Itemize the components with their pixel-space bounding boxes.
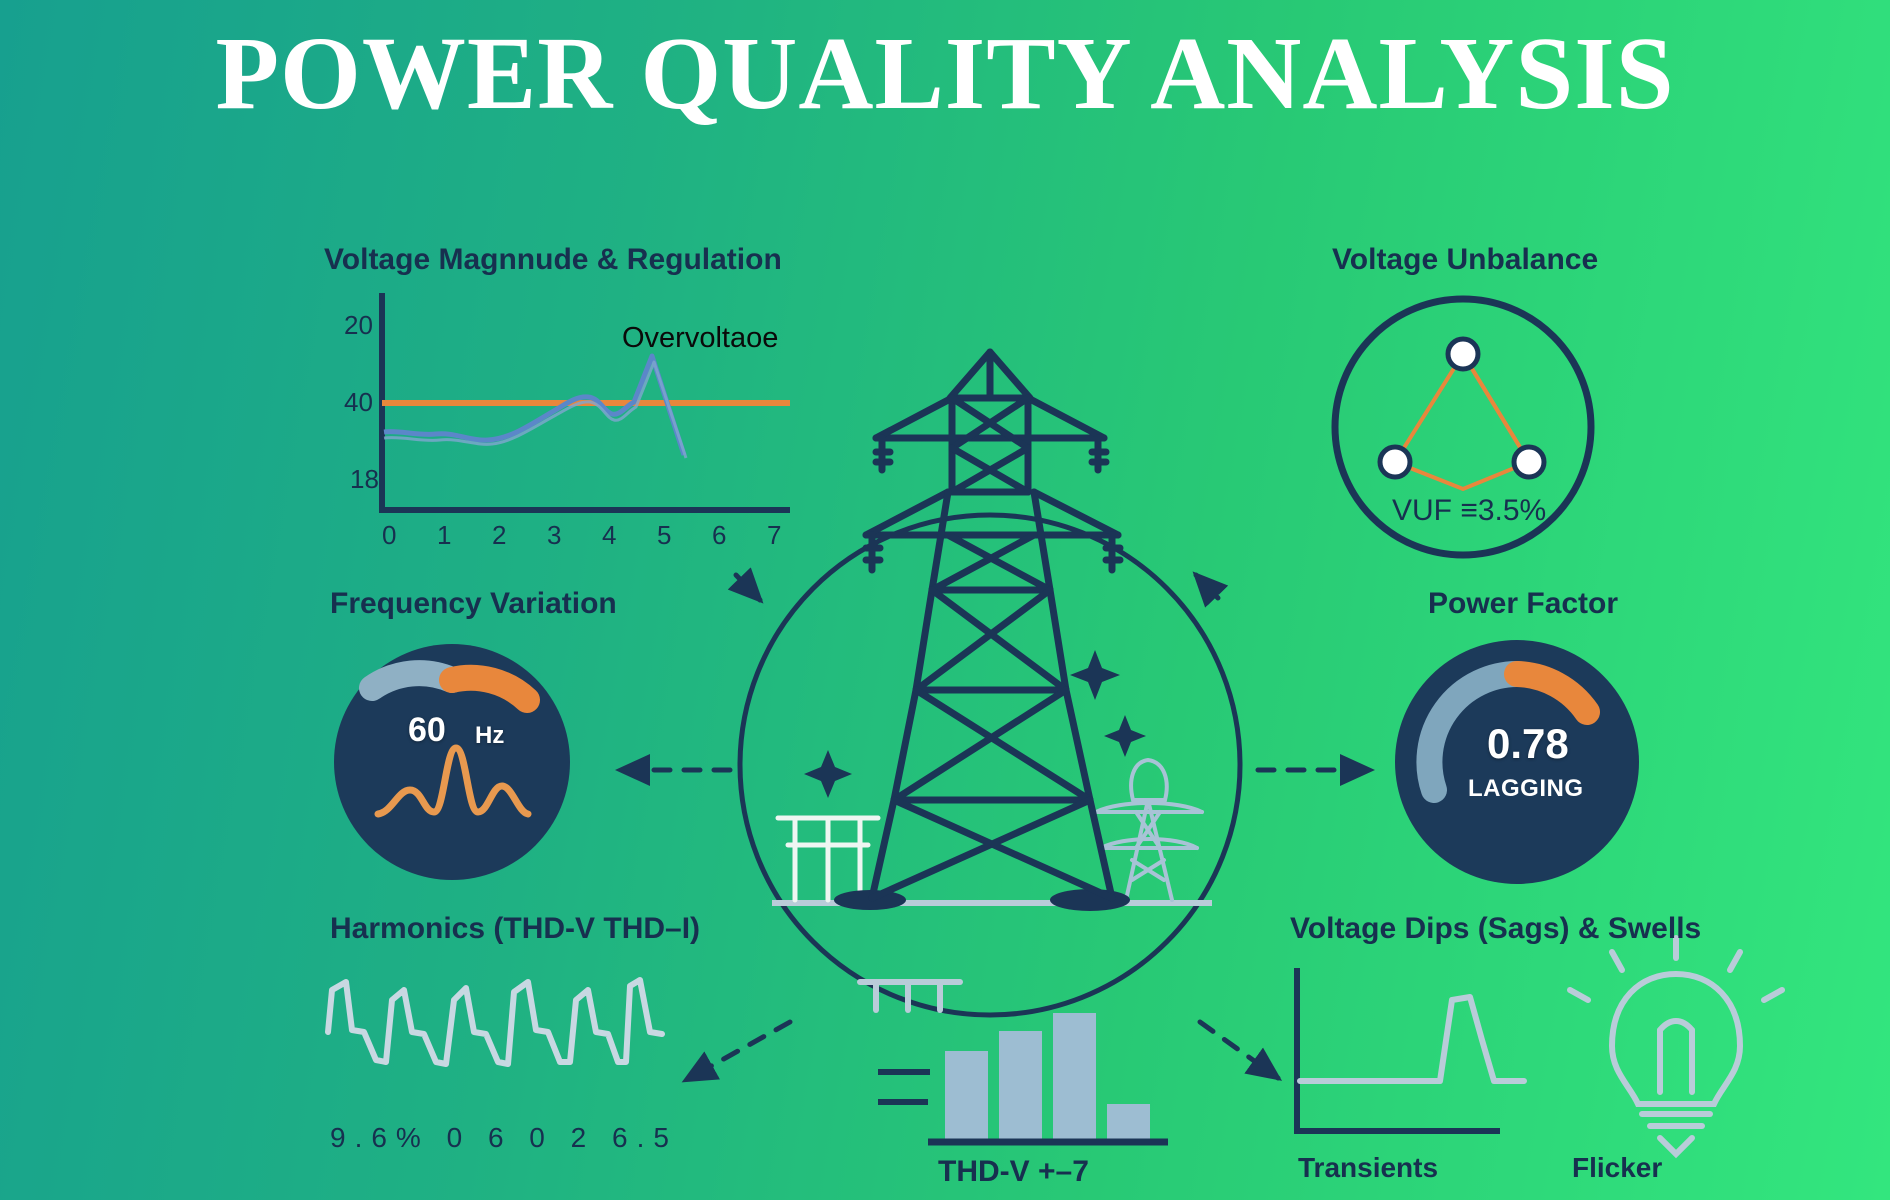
vu-node-a: [1448, 339, 1478, 369]
thd-bar-4: [1107, 1104, 1150, 1139]
tr-axes: [1297, 968, 1500, 1131]
annotation-overvoltage: Overvoltaoe: [622, 322, 778, 355]
central-illustration: [740, 352, 1240, 1015]
vm-xtick-7: 7: [767, 520, 781, 551]
harmonics-waveform: [328, 980, 662, 1064]
panel-title-voltage-magnitude: Voltage Magnnude & Regulation: [324, 243, 782, 277]
small-pylon-right-icon: [1096, 760, 1202, 900]
vm-xtick-3: 3: [547, 520, 561, 551]
vm-ytick-2: 18: [350, 464, 379, 495]
connector-to-dips: [1200, 1022, 1278, 1078]
vu-phasor-leg: [1463, 354, 1529, 462]
connector-arrows: [620, 575, 1370, 1080]
vuf-value: VUF ≡3.5%: [1392, 494, 1546, 528]
panel-title-voltage-unbalance: Voltage Unbalance: [1332, 243, 1598, 277]
connector-to-harmonics: [686, 1022, 790, 1080]
panel-title-dips-swells: Voltage Dips (Sags) & Swells: [1290, 912, 1701, 946]
vm-ytick-1: 40: [344, 387, 373, 418]
harmonics-values: 9.6% 0 6 0 2 6.5: [330, 1122, 678, 1154]
label-flicker: Flicker: [1572, 1152, 1662, 1184]
frequency-value: 60: [408, 711, 446, 750]
thd-bar-1: [945, 1051, 988, 1139]
vm-xtick-6: 6: [712, 520, 726, 551]
thd-bar-2: [999, 1031, 1042, 1139]
panel-title-harmonics: Harmonics (THD-V THD–I): [330, 912, 700, 946]
vm-xtick-1: 1: [437, 520, 451, 551]
thd-bar-label: THD-V +–7: [938, 1155, 1089, 1189]
label-transients: Transients: [1298, 1152, 1438, 1184]
page-title: POWER QUALITY ANALYSIS: [0, 14, 1890, 133]
flicker-bulb-icon: [1570, 938, 1782, 1154]
vm-xtick-0: 0: [382, 520, 396, 551]
panel-title-power-factor: Power Factor: [1428, 587, 1618, 621]
connector-to-voltage-unbalance: [1196, 575, 1218, 598]
power-factor-state: LAGGING: [1468, 775, 1584, 803]
vm-voltage-line-shadow: [384, 362, 686, 458]
tower-base-right: [1050, 889, 1130, 911]
frequency-unit: Hz: [475, 722, 504, 750]
vu-node-c: [1514, 447, 1544, 477]
vm-xtick-4: 4: [602, 520, 616, 551]
panel-title-frequency: Frequency Variation: [330, 587, 617, 621]
transmission-tower-icon: [866, 352, 1120, 898]
vm-xtick-2: 2: [492, 520, 506, 551]
power-factor-value: 0.78: [1487, 720, 1569, 768]
poster-root: POWER QUALITY ANALYSIS Voltage Magnnude …: [0, 0, 1890, 1200]
vu-phasor-triangle: [1395, 354, 1529, 489]
transients-chart: [1297, 968, 1524, 1131]
connector-to-voltage-magnitude: [736, 575, 760, 600]
small-pylon-left-icon: [778, 818, 878, 900]
vm-xtick-5: 5: [657, 520, 671, 551]
frequency-gauge: [334, 644, 570, 880]
vm-ytick-0: 20: [344, 310, 373, 341]
harmonics-trace: [328, 980, 662, 1064]
thd-bar-chart: [878, 1013, 1168, 1142]
substation-icon: [860, 982, 960, 1010]
thd-bar-3: [1053, 1013, 1096, 1139]
vu-node-b: [1380, 447, 1410, 477]
tr-trace: [1300, 997, 1524, 1081]
